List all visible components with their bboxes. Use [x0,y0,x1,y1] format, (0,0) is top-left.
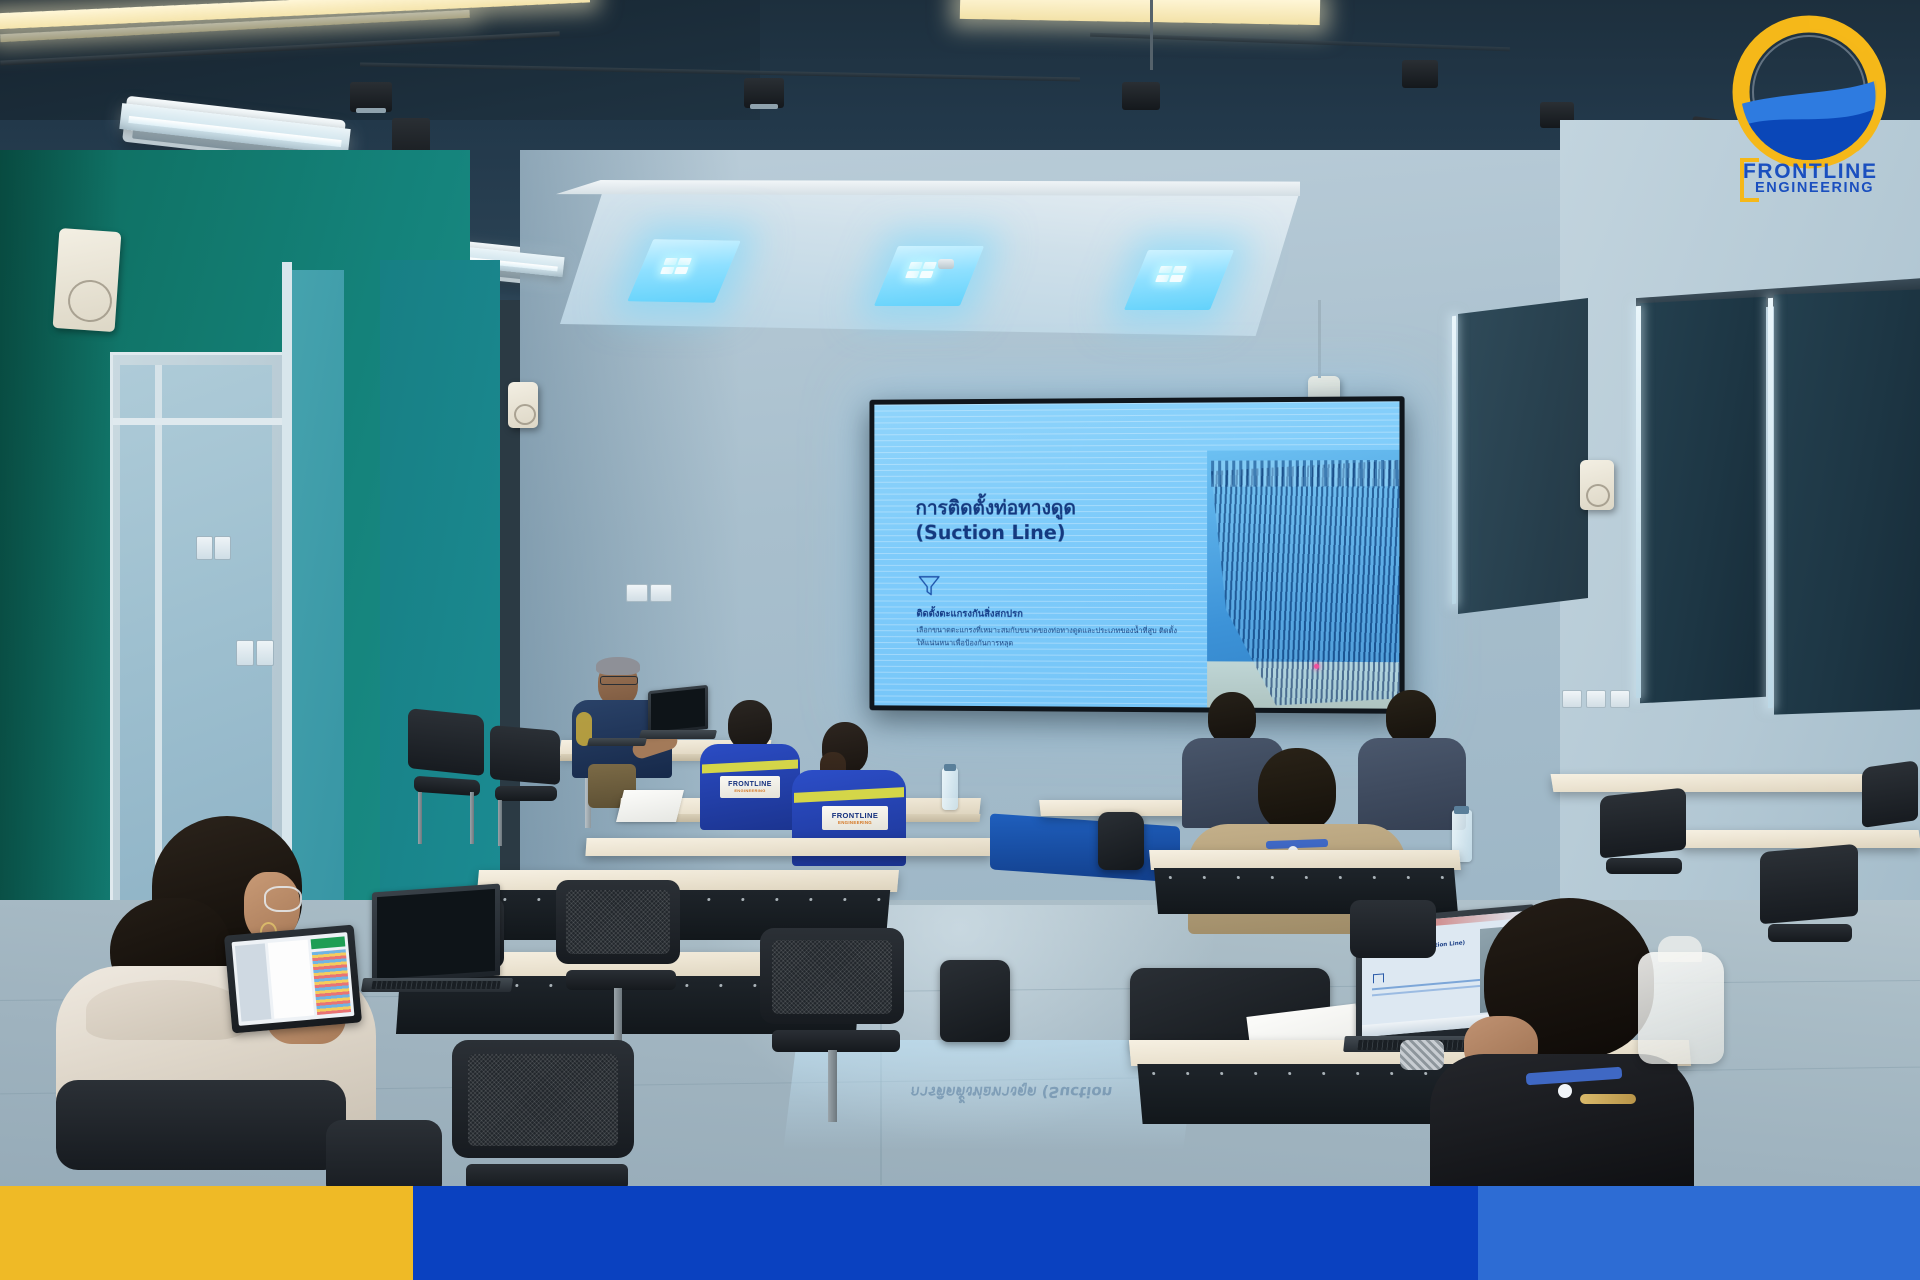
chair-seat [1768,924,1852,942]
front-long-table [585,838,992,856]
chair-instructor-left[interactable] [408,712,488,842]
slide-photo-grate-top [1211,460,1400,486]
teal-wall-right-section [380,260,500,950]
laptop-left-screen [377,889,495,979]
chair-right-edge[interactable] [1862,764,1920,884]
table-panel-rivet [741,898,744,901]
ceiling-spotlight-1-lens [356,108,386,113]
wall-speaker-back-left-cone [514,404,536,425]
speaker-cable [1318,300,1321,378]
black-person-lanyard-clip [1558,1084,1572,1098]
screen-scanline [874,426,1399,430]
tablet-panel-header [311,936,346,949]
plastic-bag [1638,952,1724,1064]
dark-blue-bar [413,1186,1479,1280]
ceiling-spotlight-5 [1402,60,1438,88]
wristwatch [1400,1040,1444,1070]
table-panel-rivet [1305,876,1308,879]
coverall-1-badge: FRONTLINE ENGINEERING [720,776,780,798]
instructor-laptop-lid[interactable] [648,685,708,735]
screen-scanline [874,407,1399,411]
light-switch-3[interactable] [236,640,254,666]
navy-2-head [1386,690,1436,744]
floor-reflection-text: การติดตั้งท่อทางดูด (Suction [909,1080,1114,1104]
blind-light-gap-2 [1768,298,1773,708]
chair-back [1600,787,1686,858]
screen-scanline [874,444,1399,447]
wall-outlet-5[interactable] [1562,690,1582,708]
screen-scanline [874,401,1399,405]
cove-cell [908,262,923,269]
chair-back [1760,844,1858,925]
coverall-1-badge-line2: ENGINEERING [734,788,765,793]
woman-glasses [264,886,302,912]
table-panel-rivet [549,984,552,987]
door-transom [110,418,285,425]
screen-scanlines [874,401,1399,404]
slide-title: การติดตั้งท่อทางดูด (Suction Line) [915,495,1163,546]
table-panel-rivet [1220,1072,1223,1075]
cove-cell [1155,275,1170,282]
table-panel-rivet [1373,876,1376,879]
cove-cell [922,262,937,269]
cove-cell [1172,266,1187,273]
chair-right-mid[interactable] [1350,900,1440,1020]
chair-leg [498,800,502,846]
water-bottle-3-cap [1454,806,1469,814]
table-panel-rivet [719,984,722,987]
table-panel-rivet [1390,1072,1393,1075]
table-panel-rivet [1407,876,1410,879]
table-panel-rivet [1339,876,1342,879]
slide-photo [1207,450,1399,709]
right-table-far [1551,774,1914,792]
laptop-left-lid[interactable] [372,884,500,985]
black-person-necklace [1580,1094,1636,1104]
frontline-engineering-logo: FRONTLINE ENGINEERING [1713,8,1909,208]
chair-right-far-2[interactable] [1760,848,1864,998]
chair-mesh [566,890,670,954]
right-table-1 [1149,850,1461,870]
instructor-hair [596,657,640,675]
table-panel-rivet [1203,876,1206,879]
light-switch-4[interactable] [256,640,274,666]
window-blind-1[interactable] [1640,297,1766,704]
table-panel-rivet [1322,1072,1325,1075]
table-panel-rivet [753,984,756,987]
smoke-detector [938,259,954,269]
tablet-device[interactable] [224,925,362,1034]
plastic-bag-handles [1658,936,1702,962]
table-panel-rivet [1424,1072,1427,1075]
ceiling-spotlight-4 [1122,82,1160,110]
chair-instructor-right[interactable] [490,728,564,848]
table-panel-rivet [877,898,880,901]
table-panel-rivet [809,898,812,901]
document-left[interactable] [616,790,684,822]
instructor-laptop-screen [651,688,705,732]
screen-scanline [874,413,1399,417]
chair-seat [495,786,557,801]
chair-mid-2[interactable] [760,928,910,1128]
chair-seat [772,1030,900,1052]
yellow-bar [0,1186,413,1280]
table-panel-rivet [1169,876,1172,879]
light-switch-2[interactable] [214,536,231,560]
wall-speaker-right-cone [1586,484,1610,507]
table-panel-rivet [515,984,518,987]
water-bottle-1[interactable] [942,768,958,810]
coverall-1-badge-line1: FRONTLINE [728,781,772,788]
cove-cell [919,271,934,278]
light-switch-1[interactable] [196,536,213,560]
backpack-mid [940,960,1010,1042]
ceiling-conduit [1150,0,1153,70]
blind-light-gap-1 [1636,306,1641,698]
wall-outlet-3[interactable] [626,584,648,602]
table-panel-rivet [1152,1072,1155,1075]
table-panel-rivet [1271,876,1274,879]
chair-seat [1606,858,1682,874]
chair-back [1350,900,1436,958]
tablet-panel-left [235,943,272,1021]
chair-column [828,1050,837,1122]
cove-cell [674,267,689,274]
wall-outlet-4[interactable] [650,584,672,602]
coverall-2-badge-line1: FRONTLINE [832,811,879,820]
logo-text-engineering: ENGINEERING [1755,180,1874,196]
table-panel-rivet [1254,1072,1257,1075]
funnel-icon [917,575,941,597]
bottom-color-bars [0,1186,1920,1280]
table-panel-rivet [537,898,540,901]
chair-leg [418,792,422,844]
ceiling-soffit-lip [556,180,1300,196]
tablet-screen [232,932,355,1026]
window-blind-2[interactable] [1774,289,1920,714]
chair-back [408,708,484,776]
table-panel-rivet [707,898,710,901]
chair-back [56,1080,346,1170]
chair-mid-1[interactable] [556,880,686,1060]
khaki-head [1258,748,1336,832]
instructor-glasses [600,676,638,685]
chair-back [1862,760,1918,828]
coverall-2-badge-line2: ENGINEERING [838,820,872,825]
chair-mesh [468,1054,618,1146]
chair-back [490,725,560,785]
slide-subheading: ติดตั้งตะแกรงกันสิ่งสกปรก [916,607,1214,623]
mid-table-1 [477,870,899,892]
water-bottle-1-cap [944,764,956,771]
table-panel-rivet [1356,1072,1359,1075]
laptop-left-keyboard[interactable] [371,981,500,989]
navy-1-head [1208,692,1256,744]
logo-f-bracket [1740,158,1759,202]
cove-cell [663,258,678,265]
wall-outlet-6[interactable] [1586,690,1606,708]
screen-scanline [874,432,1399,436]
light-blue-bar [1478,1186,1920,1280]
instructor-tablet[interactable] [587,738,647,746]
table-panel-rivet [1237,876,1240,879]
screen-scanline [874,419,1399,423]
cove-cell [660,267,675,274]
chair-leg [470,792,474,844]
screen-scanline [874,438,1399,442]
coverall-2-badge: FRONTLINE ENGINEERING [822,806,888,830]
tablet-panel-mid [268,940,314,1019]
cove-cell [1169,275,1184,282]
slide-content: การติดตั้งท่อทางดูด (Suction Line) ติดตั… [874,401,1399,708]
chair-mesh [772,940,892,1014]
ceiling-spotlight-3-lens [750,104,778,109]
tablet-panel-chart [312,949,351,1015]
presentation-display[interactable]: การติดตั้งท่อทางดูด (Suction Line) ติดตั… [869,396,1404,714]
woman-hood [86,980,246,1040]
chair-seat [566,970,676,990]
wall-outlet-7[interactable] [1610,690,1630,708]
cove-cell [677,258,692,265]
classroom-photo: การติดตั้งท่อทางดูด (Suction การติดตั้งท… [0,0,1920,1280]
cove-cell [905,271,920,278]
table-panel-rivet [843,898,846,901]
slide-body-text: เลือกขนาดตะแกรงที่เหมาะสมกับขนาดของท่อทา… [916,624,1182,650]
coverall-1-head [728,700,772,750]
cove-cell [1158,266,1173,273]
blind-light-gap-3 [1452,316,1456,604]
table-panel-rivet [1186,1072,1189,1075]
person-coverall-1: FRONTLINE ENGINEERING [700,700,802,840]
window-blind-3[interactable] [1458,298,1588,614]
table-panel-rivet [775,898,778,901]
table-panel-rivet [1441,876,1444,879]
backpack-right-1 [1098,812,1144,870]
table-panel-rivet [1288,1072,1291,1075]
